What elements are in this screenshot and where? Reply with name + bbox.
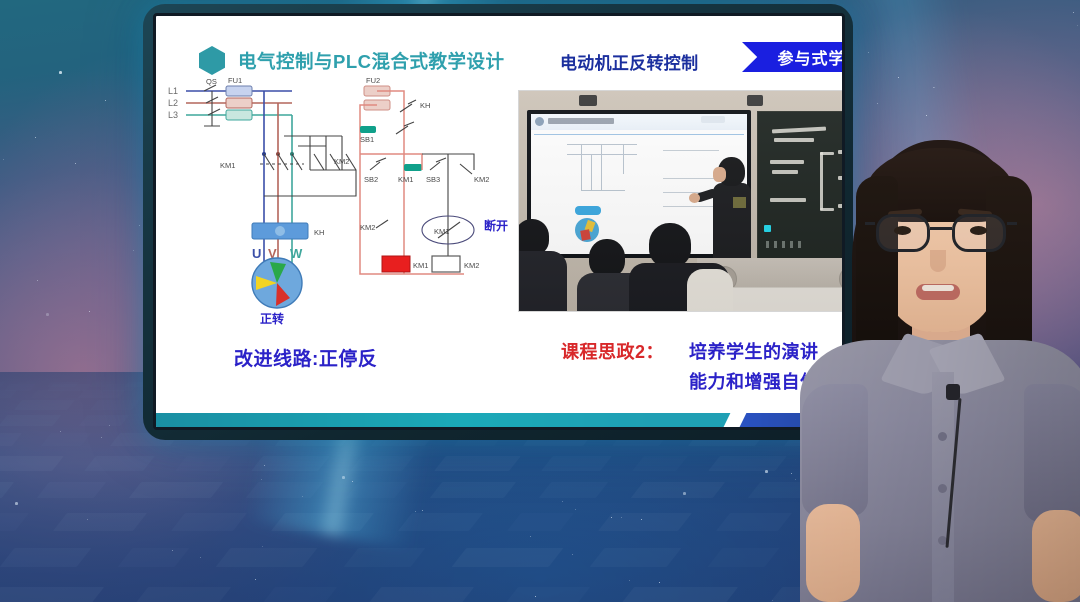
motor-caption: 正转	[260, 311, 284, 326]
glasses-temple-right	[1007, 222, 1017, 225]
slide-screen: 电气控制与PLC混合式教学设计 电动机正反转控制 参与式学习 .l1{strok…	[153, 13, 845, 430]
label-km2-main: KM2	[334, 157, 349, 166]
label-km1-main: KM1	[220, 161, 235, 170]
label-l2: L2	[168, 98, 178, 108]
glasses-icon	[872, 214, 1010, 254]
slide-bottom-band	[156, 413, 842, 427]
slide-header: 电气控制与PLC混合式教学设计 电动机正反转控制 参与式学习	[156, 16, 842, 74]
presenter-teeth	[922, 285, 954, 291]
caption-right-red: 课程思政2：	[561, 338, 664, 364]
label-w: W	[290, 246, 303, 261]
classroom-photo	[518, 90, 845, 312]
teacher-presenter	[800, 132, 1080, 602]
label-km2-interlock: KM2	[360, 223, 375, 232]
photo-overlay	[519, 91, 845, 311]
label-qs: QS	[206, 78, 217, 86]
label-coil-km1: KM1	[413, 261, 428, 270]
caption-left: 改进线路:正停反	[234, 344, 377, 371]
presenter-eye-right	[970, 226, 987, 235]
label-kh-contact: KH	[420, 101, 430, 110]
label-l3: L3	[168, 110, 178, 120]
label-fu1: FU1	[228, 78, 242, 85]
presenter-hair-left	[856, 176, 898, 366]
annotation-duankai: 断开	[484, 218, 508, 233]
presenter-nose	[930, 250, 946, 272]
presenter-shading	[800, 340, 1080, 602]
hexagon-icon	[199, 46, 225, 75]
label-sb3: SB3	[426, 175, 440, 184]
display-bezel: 电气控制与PLC混合式教学设计 电动机正反转控制 参与式学习 .l1{strok…	[143, 4, 853, 440]
glasses-temple-left	[865, 222, 875, 225]
label-sb1: SB1	[360, 135, 374, 144]
label-kh-relay: KH	[314, 228, 324, 237]
glasses-bridge	[930, 227, 952, 230]
label-l1: L1	[168, 86, 178, 96]
learning-mode-banner-label: 参与式学习	[773, 45, 845, 69]
presenter-eye-left	[894, 226, 911, 235]
slide-title-main: 电气控制与PLC混合式教学设计	[238, 48, 505, 74]
label-sb2: SB2	[364, 175, 378, 184]
label-fu2: FU2	[366, 78, 380, 85]
label-coil-km2: KM2	[464, 261, 479, 270]
screenshot-stage: 电气控制与PLC混合式教学设计 电动机正反转控制 参与式学习 .l1{strok…	[0, 0, 1080, 602]
label-km2-aux: KM2	[474, 175, 489, 184]
circuit-diagram: .l1{stroke:#3b4fa8;stroke-width:1.6;fill…	[164, 78, 520, 328]
label-u: U	[252, 246, 261, 261]
learning-mode-banner: 参与式学习	[742, 42, 845, 72]
slide-title-sub: 电动机正反转控制	[560, 49, 698, 74]
label-km1-aux: KM1	[398, 175, 413, 184]
label-km1-circle: KM1	[434, 227, 449, 236]
